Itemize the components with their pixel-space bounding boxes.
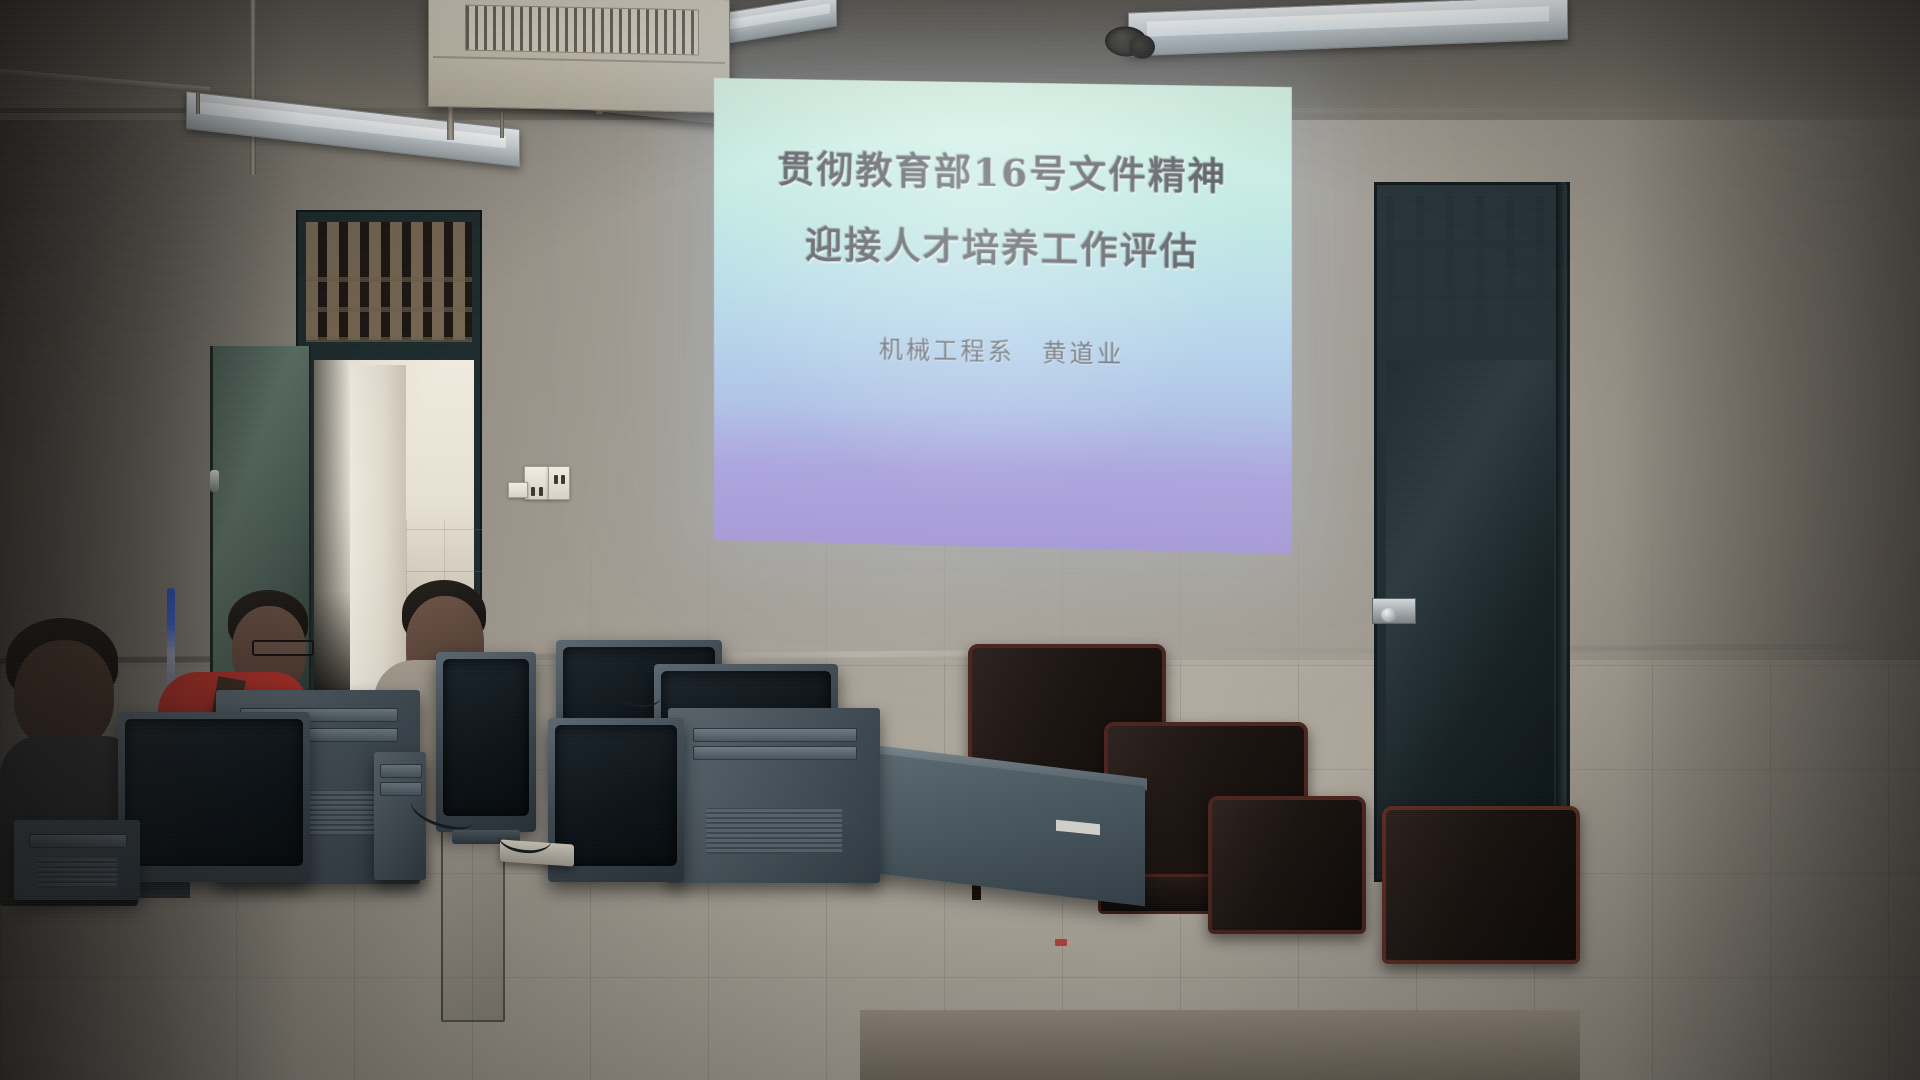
- pipe-drop: [250, 0, 256, 175]
- wall-outlet-2[interactable]: [548, 466, 570, 500]
- slide-presenter-line: 机械工程系 黄道业: [879, 329, 1124, 369]
- right-door-barred-window: [1386, 196, 1554, 352]
- chair-backrest: [1208, 796, 1366, 934]
- computer-tower-1: [668, 708, 880, 883]
- slide-title-line-2: 迎接人才培养工作评估: [805, 227, 1199, 272]
- eyeglasses-icon: [252, 640, 314, 656]
- chair-backrest: [1382, 806, 1580, 964]
- projector-vent-grille: [465, 5, 699, 56]
- head: [14, 640, 114, 750]
- outlet-slot-icon: [539, 487, 543, 496]
- floor: [860, 1010, 1580, 1080]
- tower-drive-bay: [380, 764, 422, 778]
- projection-screen: 贯彻教育部16号文件精神 迎接人才培养工作评估 机械工程系 黄道业: [714, 78, 1292, 554]
- wooden-lattice-bars: [306, 252, 472, 342]
- tower-vent-grille: [706, 808, 842, 854]
- tower-drive-bay: [693, 746, 856, 760]
- outlet-slot-icon: [554, 475, 558, 484]
- monitor-screen: [443, 659, 529, 816]
- wall-outlet-3[interactable]: [508, 482, 528, 498]
- outlet-slot-icon: [531, 487, 535, 496]
- doorway-shadow: [314, 360, 350, 690]
- lamp-hanger-rod: [500, 112, 504, 138]
- slide-title-line-1: 贯彻教育部16号文件精神: [777, 151, 1227, 196]
- monitor-screen: [125, 719, 303, 866]
- tower-drive-bay: [29, 834, 127, 848]
- outlet-slot-icon: [561, 475, 565, 484]
- projector-lens-inner: [1129, 35, 1155, 60]
- lamp-hanger-rod: [196, 92, 200, 114]
- left-door-handle-icon[interactable]: [210, 470, 219, 492]
- ceiling-projector: [428, 0, 730, 113]
- slide-content: 贯彻教育部16号文件精神 迎接人才培养工作评估 机械工程系 黄道业: [714, 78, 1292, 554]
- outlet-indicator-icon: [1055, 939, 1067, 946]
- tower-drive-bay: [380, 782, 422, 796]
- computer-tower-4: [14, 820, 140, 900]
- right-door-edge: [1556, 182, 1566, 882]
- projector-seam: [433, 56, 725, 64]
- classroom-scene: 贯彻教育部16号文件精神 迎接人才培养工作评估 机械工程系 黄道业: [0, 0, 1920, 1080]
- tower-drive-bay: [693, 728, 856, 742]
- tower-vent-grille: [37, 858, 118, 888]
- lamp-tube-icon: [1147, 6, 1550, 36]
- interior-pillar: [350, 365, 406, 695]
- right-door-knob-icon[interactable]: [1381, 608, 1397, 622]
- monitor-4: [118, 712, 310, 882]
